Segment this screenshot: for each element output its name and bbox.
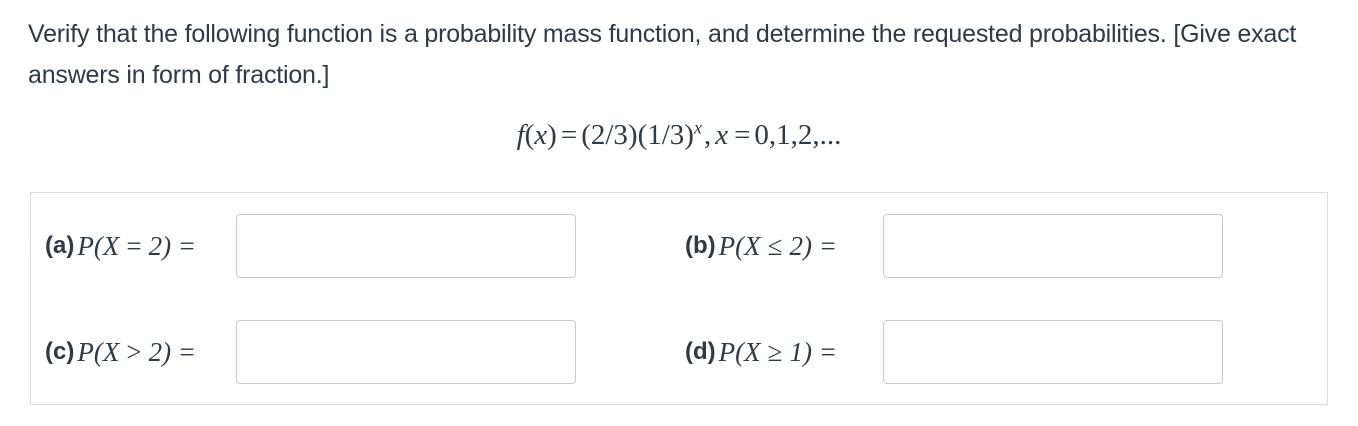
formula-body: (2/3)(1/3) <box>581 119 694 151</box>
expr-suffix-b: 2) = <box>789 231 836 261</box>
answer-expression-a: P(X=2) = <box>77 231 196 262</box>
answer-expression-c: P(X>2) = <box>77 337 196 368</box>
answer-input-d[interactable] <box>883 320 1223 384</box>
answer-cell-c: (c) P(X>2) = <box>45 299 576 405</box>
formula-function-name: f <box>517 119 525 151</box>
formula-exponent: x <box>694 117 702 137</box>
answer-row-1: (a) P(X=2) = (b) P(X≤2) = <box>31 193 1327 299</box>
expr-suffix-a: 2) = <box>149 231 196 261</box>
answer-cell-b: (b) P(X≤2) = <box>685 193 1223 299</box>
expr-prefix-b: P(X <box>719 231 761 261</box>
expr-prefix-c: P(X <box>77 337 119 367</box>
answer-cell-d: (d) P(X≥1) = <box>685 299 1223 405</box>
formula-container: f(x)=(2/3)(1/3)x,x=0,1,2,... <box>0 119 1358 152</box>
answer-input-a[interactable] <box>236 214 576 278</box>
answer-expression-d: P(X≥1) = <box>719 337 837 368</box>
answer-cell-a: (a) P(X=2) = <box>45 193 576 299</box>
expr-suffix-c: 2) = <box>149 337 196 367</box>
expr-suffix-d: 1) = <box>789 337 836 367</box>
formula-comma: , <box>702 119 713 151</box>
problem-statement: Verify that the following function is a … <box>28 14 1328 96</box>
answer-label-b: (b) <box>685 232 716 260</box>
expr-relation-c: > <box>119 337 148 367</box>
answer-row-2: (c) P(X>2) = (d) P(X≥1) = <box>31 299 1327 405</box>
answer-label-c: (c) <box>45 338 74 366</box>
expr-prefix-d: P(X <box>719 337 761 367</box>
formula-paren-open: ( <box>525 119 535 151</box>
answer-label-d: (d) <box>685 338 716 366</box>
formula-equals: = <box>557 119 581 151</box>
formula-domain-values: 0,1,2,... <box>754 119 841 151</box>
answer-expression-b: P(X≤2) = <box>719 231 837 262</box>
answer-label-a: (a) <box>45 232 74 260</box>
formula-variable: x <box>534 119 547 151</box>
answer-input-c[interactable] <box>236 320 576 384</box>
formula-domain-equals: = <box>730 119 754 151</box>
pmf-formula: f(x)=(2/3)(1/3)x,x=0,1,2,... <box>517 119 842 152</box>
expr-relation-d: ≥ <box>761 337 790 367</box>
expr-relation-a: = <box>119 231 148 261</box>
formula-domain-variable: x <box>713 119 730 151</box>
formula-paren-close: ) <box>547 119 557 151</box>
answer-input-b[interactable] <box>883 214 1223 278</box>
answer-panel: (a) P(X=2) = (b) P(X≤2) = (c) P(X>2) = (… <box>30 192 1328 405</box>
expr-prefix-a: P(X <box>77 231 119 261</box>
expr-relation-b: ≤ <box>761 231 790 261</box>
